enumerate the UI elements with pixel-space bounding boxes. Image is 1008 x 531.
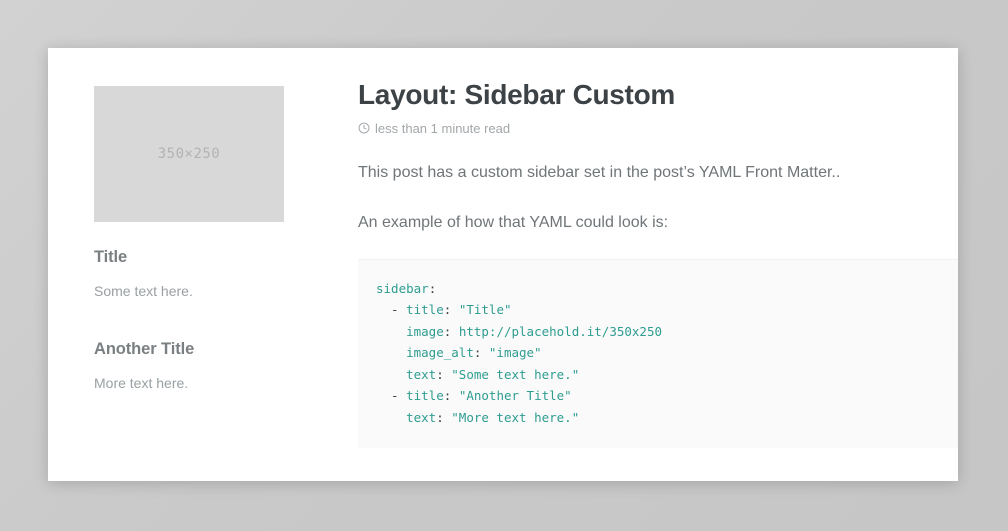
code-line: text: "More text here." <box>376 407 936 429</box>
code-token-str: "Title" <box>459 302 512 317</box>
code-block-yaml: sidebar: - title: "Title" image: http://… <box>358 259 958 449</box>
code-token-punct: : <box>474 345 489 360</box>
code-body: sidebar: - title: "Title" image: http://… <box>376 278 936 429</box>
code-token-punct: : <box>444 302 459 317</box>
clock-icon <box>358 122 370 134</box>
sidebar-placeholder-image: 350×250 <box>94 86 284 222</box>
code-token-key: image <box>406 324 444 339</box>
code-line: sidebar: <box>376 278 936 300</box>
code-line: image_alt: "image" <box>376 342 936 364</box>
read-time-label: less than 1 minute read <box>375 121 510 136</box>
code-token-punct: : <box>444 324 459 339</box>
code-token-key: text <box>406 410 436 425</box>
code-token-str: "Another Title" <box>459 388 572 403</box>
code-token-punct <box>376 410 406 425</box>
code-line: text: "Some text here." <box>376 364 936 386</box>
code-token-key: title <box>406 302 444 317</box>
code-token-key: sidebar <box>376 281 429 296</box>
code-token-punct: : <box>444 388 459 403</box>
code-token-punct: : <box>436 410 451 425</box>
post-sidebar: 350×250 Title Some text here. Another Ti… <box>94 86 292 394</box>
post-paragraph: An example of how that YAML could look i… <box>358 211 958 235</box>
code-token-key: title <box>406 388 444 403</box>
sidebar-block-title: Another Title <box>94 340 292 359</box>
code-token-val: http://placehold.it/350x250 <box>459 324 662 339</box>
code-token-key: image_alt <box>406 345 474 360</box>
code-token-punct: : <box>429 281 437 296</box>
page-title: Layout: Sidebar Custom <box>358 78 958 112</box>
sidebar-block-title: Title <box>94 248 292 267</box>
code-token-punct <box>376 345 406 360</box>
sidebar-block: Another Title More text here. <box>94 340 292 394</box>
code-line: - title: "Another Title" <box>376 385 936 407</box>
code-line: image: http://placehold.it/350x250 <box>376 321 936 343</box>
code-token-str: "Some text here." <box>451 367 579 382</box>
sidebar-image-label: 350×250 <box>158 146 221 162</box>
code-token-punct <box>376 324 406 339</box>
code-token-dash: - <box>376 388 406 403</box>
code-line: - title: "Title" <box>376 299 936 321</box>
code-token-punct: : <box>436 367 451 382</box>
code-token-key: text <box>406 367 436 382</box>
code-token-str: "More text here." <box>451 410 579 425</box>
code-token-dash: - <box>376 302 406 317</box>
code-token-str: "image" <box>489 345 542 360</box>
post-content: Layout: Sidebar Custom less than 1 minut… <box>358 78 958 461</box>
post-card: 350×250 Title Some text here. Another Ti… <box>48 48 958 481</box>
post-paragraph: This post has a custom sidebar set in th… <box>358 161 958 185</box>
sidebar-block-text: Some text here. <box>94 281 292 302</box>
sidebar-block-text: More text here. <box>94 373 292 394</box>
code-token-punct <box>376 367 406 382</box>
sidebar-block: Title Some text here. <box>94 248 292 302</box>
post-meta: less than 1 minute read <box>358 121 958 136</box>
